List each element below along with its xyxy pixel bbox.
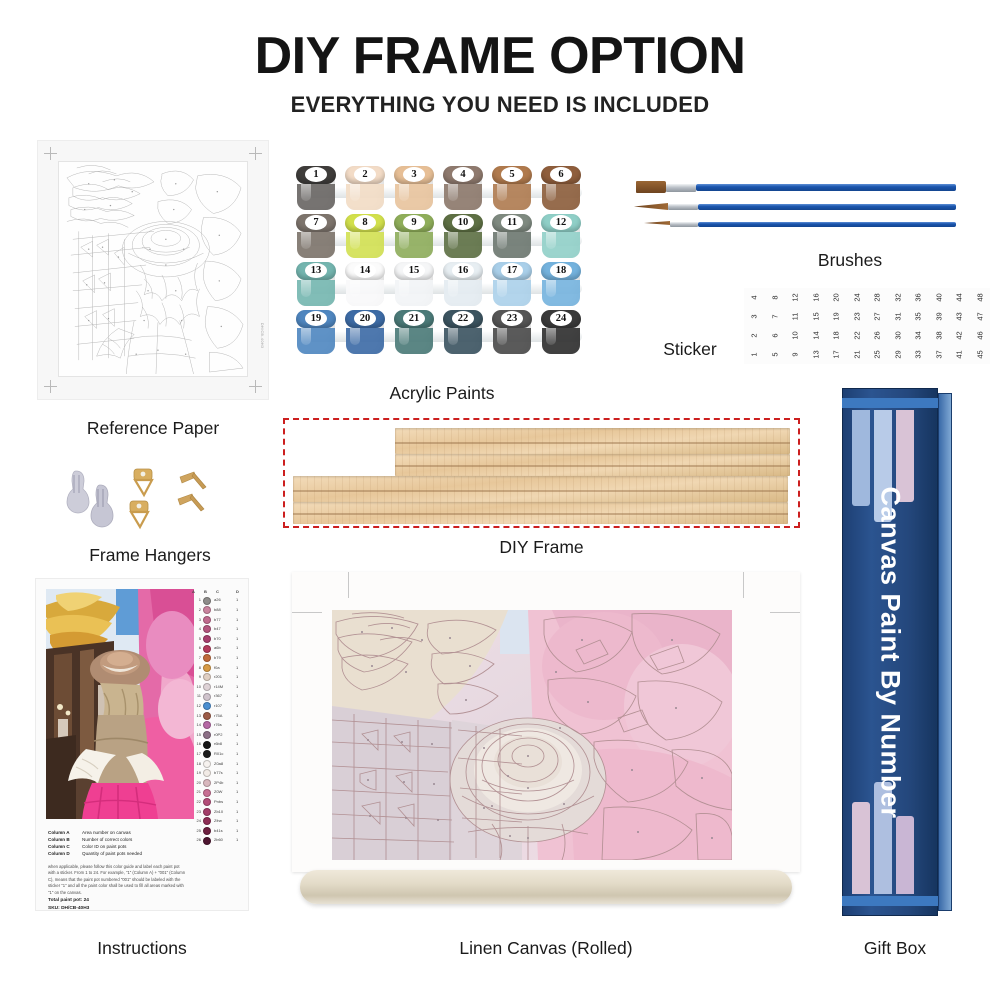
brush-handle	[696, 184, 956, 191]
frame-bar	[395, 454, 790, 476]
legend-index: 11	[190, 693, 201, 698]
legend-color-code: r76s	[214, 722, 222, 727]
legend-color-swatch	[203, 616, 211, 624]
legend-quantity: 1	[236, 780, 238, 785]
paint-pot[interactable]: 21	[394, 310, 434, 356]
sticker-number: 29	[893, 347, 902, 361]
paint-pot[interactable]: 7	[296, 214, 336, 260]
legend-row: 9r2011	[190, 673, 242, 682]
sticker-number: 45	[975, 347, 984, 361]
legend-row: 1a261	[190, 596, 242, 605]
brush-handle	[698, 222, 956, 227]
legend-row: 25b41s1	[190, 826, 242, 835]
gift-box-label: Canvas Paint By Number	[875, 486, 906, 818]
sticker-number: 39	[934, 309, 943, 323]
caption-instructions: Instructions	[35, 938, 249, 959]
d-ring-icon	[134, 469, 152, 495]
legend-color-swatch	[203, 741, 211, 749]
legend-color-code: R01c	[214, 751, 223, 756]
legend-quantity: 1	[236, 693, 238, 698]
legend-quantity: 1	[236, 789, 238, 794]
page-title: DIY FRAME OPTION	[0, 26, 1000, 86]
legend-color-code: 2b60	[214, 837, 223, 842]
legend-color-code: b41s	[214, 828, 223, 833]
paint-pot-number: 12	[550, 215, 572, 230]
legend-color-code: r201	[214, 674, 222, 679]
legend-color-swatch	[203, 664, 211, 672]
legend-color-swatch	[203, 673, 211, 681]
instruction-column-row: Column BNumber of correct colors	[48, 836, 183, 843]
instruction-column-row: Column AArea number on canvas	[48, 829, 183, 836]
legend-column-header: C	[216, 589, 219, 594]
paint-pot-rail	[302, 331, 582, 342]
paint-pot-number: 14	[354, 263, 376, 278]
paint-pot[interactable]: 6	[541, 166, 581, 212]
paint-pot-number: 19	[305, 311, 327, 326]
instruction-column-desc: Number of correct colors	[82, 837, 132, 842]
sticker-number: 37	[934, 347, 943, 361]
legend-column-header: A	[192, 589, 195, 594]
sticker-number: 3	[750, 309, 759, 323]
sticker-number: 22	[852, 328, 861, 342]
paint-pot[interactable]: 22	[443, 310, 483, 356]
legend-row: 12r1071	[190, 702, 242, 711]
legend-quantity: 1	[236, 597, 238, 602]
legend-color-swatch	[203, 798, 211, 806]
legend-color-swatch	[203, 683, 211, 691]
legend-color-swatch	[203, 731, 211, 739]
canvas-art-svg	[332, 610, 732, 860]
instructions-column-key: Column AArea number on canvasColumn BNum…	[48, 829, 183, 857]
sticker-number: 18	[832, 328, 841, 342]
legend-index: 20	[190, 780, 201, 785]
instruction-column-label: Column D	[48, 850, 82, 857]
legend-row: 17R01c1	[190, 750, 242, 759]
instructions-art-svg	[46, 589, 194, 819]
legend-row: 16r6b81	[190, 740, 242, 749]
legend-row: 18Z0a81	[190, 759, 242, 768]
brush-bristles	[634, 203, 668, 210]
canvas-sheet	[292, 572, 800, 872]
legend-color-code: r6b8	[214, 741, 222, 746]
paint-pot-number: 8	[354, 215, 376, 230]
sticker-number: 46	[975, 328, 984, 342]
legend-quantity: 1	[236, 837, 238, 842]
frame-bar	[293, 502, 788, 524]
sticker-number: 24	[852, 290, 861, 304]
sticker-number: 40	[934, 290, 943, 304]
caption-linen-canvas: Linen Canvas (Rolled)	[292, 938, 800, 959]
legend-row: 4b471	[190, 625, 242, 634]
legend-quantity: 1	[236, 645, 238, 650]
legend-color-swatch	[203, 721, 211, 729]
legend-quantity: 1	[236, 626, 238, 631]
legend-color-swatch	[203, 817, 211, 825]
paint-pot-number: 6	[550, 167, 572, 182]
legend-index: 2	[190, 607, 201, 612]
caption-diy-frame: DIY Frame	[283, 537, 800, 558]
screw-icon	[178, 494, 204, 511]
sticker-number: 19	[832, 309, 841, 323]
paint-pot[interactable]: 24	[541, 310, 581, 356]
legend-row: 202P4b1	[190, 778, 242, 787]
total-paint-pot-label: Total paint pot:	[48, 898, 82, 903]
legend-quantity: 1	[236, 703, 238, 708]
sticker-number: 27	[873, 309, 882, 323]
brush-ferrule	[668, 204, 698, 210]
paint-pot-number: 22	[452, 311, 474, 326]
sticker-number: 44	[955, 290, 964, 304]
legend-color-code: b79	[214, 655, 221, 660]
legend-index: 22	[190, 799, 201, 804]
line-art-svg	[59, 162, 247, 376]
paint-pot[interactable]: 13	[296, 262, 336, 308]
legend-color-swatch	[203, 712, 211, 720]
legend-index: 15	[190, 732, 201, 737]
legend-index: 9	[190, 674, 201, 679]
legend-row: 23Zb101	[190, 807, 242, 816]
paint-pot[interactable]: 23	[492, 310, 532, 356]
legend-quantity: 1	[236, 761, 238, 766]
instruction-column-row: Column DQuantity of paint pots needed	[48, 850, 183, 857]
paint-pot[interactable]: 14	[345, 262, 385, 308]
acrylic-paints-group: 123456789101112131415161718192021222324	[296, 166, 588, 366]
sticker-number: 48	[975, 290, 984, 304]
legend-color-swatch	[203, 827, 211, 835]
paint-pot[interactable]: 20	[345, 310, 385, 356]
paint-pot-number: 18	[550, 263, 572, 278]
brushes-group	[616, 178, 956, 240]
legend-index: 12	[190, 703, 201, 708]
sticker-number: 4	[750, 290, 759, 304]
paint-pot-number: 7	[305, 215, 327, 230]
paint-pot-row: 789101112	[296, 214, 588, 262]
legend-quantity: 1	[236, 674, 238, 679]
legend-quantity: 1	[236, 607, 238, 612]
frame-bar	[395, 428, 790, 454]
caption-brushes: Brushes	[760, 250, 940, 271]
instruction-column-desc: Area number on canvas	[82, 830, 131, 835]
sticker-sheet: 1234567891011121314151617181920212223242…	[744, 288, 990, 364]
legend-index: 5	[190, 636, 201, 641]
legend-color-swatch	[203, 693, 211, 701]
paint-pot[interactable]: 16	[443, 262, 483, 308]
paint-pot[interactable]: 4	[443, 166, 483, 212]
legend-index: 24	[190, 818, 201, 823]
sticker-number: 12	[791, 290, 800, 304]
legend-quantity: 1	[236, 818, 238, 823]
instruction-column-desc: Color ID on paint pots	[82, 844, 126, 849]
reference-paper-line-art	[58, 161, 248, 377]
brush-ferrule	[666, 184, 696, 192]
legend-index: 8	[190, 665, 201, 670]
legend-color-swatch	[203, 645, 211, 653]
brush-ferrule	[670, 222, 698, 227]
legend-index: 1	[190, 597, 201, 602]
paint-pot-number: 3	[403, 167, 425, 182]
sticker-number: 15	[811, 309, 820, 323]
diy-frame-group	[283, 418, 800, 528]
sticker-number: 43	[955, 309, 964, 323]
legend-row: 2b881	[190, 606, 242, 615]
caption-frame-hangers: Frame Hangers	[40, 545, 260, 566]
linen-canvas-group	[292, 566, 800, 914]
legend-index: 14	[190, 722, 201, 727]
sticker-number: 16	[811, 290, 820, 304]
paint-pot[interactable]: 5	[492, 166, 532, 212]
sticker-number: 32	[893, 290, 902, 304]
legend-row: 24Zfrw1	[190, 817, 242, 826]
sticker-number: 20	[832, 290, 841, 304]
legend-row: 10r14M1	[190, 682, 242, 691]
legend-column-header: B	[204, 589, 207, 594]
legend-row: 22Pnbs1	[190, 798, 242, 807]
plastic-hook-icon	[67, 471, 89, 513]
paint-pot[interactable]: 8	[345, 214, 385, 260]
legend-color-swatch	[203, 597, 211, 605]
infographic-root: DIY FRAME OPTION EVERYTHING YOU NEED IS …	[0, 0, 1000, 1000]
legend-index: 19	[190, 770, 201, 775]
sticker-number: 13	[811, 347, 820, 361]
brush-bristles	[636, 181, 666, 193]
paint-pot-rail	[302, 283, 582, 294]
legend-index: 25	[190, 828, 201, 833]
legend-index: 23	[190, 809, 201, 814]
instructions-color-legend: ABCD1a2612b8813b7714b4715b7016a6b17b7918…	[190, 589, 242, 851]
paint-pot-number: 5	[501, 167, 523, 182]
sticker-number: 35	[914, 309, 923, 323]
brush-bristles	[644, 221, 670, 225]
legend-quantity: 1	[236, 732, 238, 737]
legend-color-code: b77	[214, 617, 221, 622]
legend-color-swatch	[203, 750, 211, 758]
sticker-number: 41	[955, 347, 964, 361]
paint-pot-number: 17	[501, 263, 523, 278]
legend-color-swatch	[203, 769, 211, 777]
paint-pot-rail	[302, 187, 582, 198]
legend-color-swatch	[203, 789, 211, 797]
legend-color-code: Zfrw	[214, 818, 222, 823]
sticker-number: 5	[770, 347, 779, 361]
paint-pot-number: 15	[403, 263, 425, 278]
reference-paper-code: DH/CB-40H3	[258, 323, 264, 365]
legend-color-code: Pnbs	[214, 799, 223, 804]
screw-icon	[180, 472, 206, 489]
frame-bar	[293, 476, 788, 502]
sticker-number: 10	[791, 328, 800, 342]
sticker-number: 7	[770, 309, 779, 323]
legend-quantity: 1	[236, 799, 238, 804]
legend-quantity: 1	[236, 617, 238, 622]
caption-reference-paper: Reference Paper	[37, 418, 269, 439]
legend-quantity: 1	[236, 665, 238, 670]
paint-pot-number: 10	[452, 215, 474, 230]
legend-quantity: 1	[236, 828, 238, 833]
legend-row: 19b77s1	[190, 769, 242, 778]
legend-color-code: a6b	[214, 645, 221, 650]
legend-color-code: 2P4b	[214, 780, 223, 785]
hangers-svg	[60, 465, 250, 535]
caption-acrylic-paints: Acrylic Paints	[296, 383, 588, 404]
caption-sticker: Sticker	[620, 339, 760, 360]
plastic-hook-icon	[91, 485, 113, 527]
legend-color-code: b88	[214, 607, 221, 612]
legend-color-code: r75A	[214, 713, 222, 718]
sticker-number: 9	[791, 347, 800, 361]
legend-color-swatch	[203, 760, 211, 768]
legend-index: 16	[190, 741, 201, 746]
legend-quantity: 1	[236, 636, 238, 641]
sticker-number: 8	[770, 290, 779, 304]
paint-pot[interactable]: 17	[492, 262, 532, 308]
sku-label: SKU:	[48, 906, 60, 911]
legend-color-swatch	[203, 837, 211, 845]
paint-pot[interactable]: 2	[345, 166, 385, 212]
legend-color-code: b47	[214, 626, 221, 631]
paint-pot-number: 16	[452, 263, 474, 278]
sticker-number: 14	[811, 328, 820, 342]
paint-pot-number: 20	[354, 311, 376, 326]
sticker-number: 34	[914, 328, 923, 342]
paint-pot[interactable]: 9	[394, 214, 434, 260]
paint-pot-row: 131415161718	[296, 262, 588, 310]
sticker-number: 47	[975, 309, 984, 323]
sticker-number: 28	[873, 290, 882, 304]
instruction-column-label: Column C	[48, 843, 82, 850]
paint-pot[interactable]: 15	[394, 262, 434, 308]
legend-column-header: D	[236, 589, 239, 594]
legend-color-code: r14M	[214, 684, 223, 689]
paint-pot[interactable]: 12	[541, 214, 581, 260]
legend-index: 17	[190, 751, 201, 756]
d-ring-icon	[130, 501, 148, 527]
legend-row: 8f0a1	[190, 663, 242, 672]
paint-pot-number: 13	[305, 263, 327, 278]
legend-color-code: r107	[214, 703, 222, 708]
canvas-line-art	[332, 610, 732, 860]
legend-color-swatch	[203, 808, 211, 816]
instruction-column-label: Column A	[48, 829, 82, 836]
brush-handle	[698, 204, 956, 210]
legend-quantity: 1	[236, 684, 238, 689]
paint-pot[interactable]: 11	[492, 214, 532, 260]
instructions-artwork	[46, 589, 194, 819]
paint-pot-row: 192021222324	[296, 310, 588, 358]
sticker-number: 21	[852, 347, 861, 361]
instruction-column-row: Column CColor ID on paint pots	[48, 843, 183, 850]
instructions-totals: Total paint pot: 24 SKU: DH/CB-40H3	[48, 897, 89, 912]
legend-quantity: 1	[236, 770, 238, 775]
legend-index: 13	[190, 713, 201, 718]
paint-pot-number: 2	[354, 167, 376, 182]
gift-box: Canvas Paint By Number	[836, 388, 954, 916]
legend-color-swatch	[203, 702, 211, 710]
legend-color-swatch	[203, 654, 211, 662]
legend-row: 14r76s1	[190, 721, 242, 730]
legend-color-code: r0P2	[214, 732, 222, 737]
sticker-number: 42	[955, 328, 964, 342]
legend-index: 18	[190, 761, 201, 766]
paint-pot[interactable]: 10	[443, 214, 483, 260]
legend-quantity: 1	[236, 722, 238, 727]
sticker-number: 30	[893, 328, 902, 342]
instructions-note: when applicable, please follow this colo…	[48, 864, 188, 896]
sticker-number: 31	[893, 309, 902, 323]
legend-row: 21Z0W1	[190, 788, 242, 797]
legend-row: 5b701	[190, 634, 242, 643]
legend-row: 15r0P21	[190, 730, 242, 739]
legend-color-code: r367	[214, 693, 222, 698]
paint-pot-number: 1	[305, 167, 327, 182]
sku-value: DH/CB-40H3	[61, 906, 89, 911]
sticker-number: 17	[832, 347, 841, 361]
gift-box-label-wrap: Canvas Paint By Number	[842, 388, 938, 916]
legend-index: 4	[190, 626, 201, 631]
sticker-number: 38	[934, 328, 943, 342]
legend-quantity: 1	[236, 809, 238, 814]
legend-quantity: 1	[236, 741, 238, 746]
legend-index: 26	[190, 837, 201, 842]
sticker-number-grid: 1234567891011121314151617181920212223242…	[744, 288, 990, 364]
legend-color-code: a26	[214, 597, 221, 602]
page-subtitle: EVERYTHING YOU NEED IS INCLUDED	[0, 92, 1000, 118]
reference-paper: DH/CB-40H3	[37, 140, 269, 400]
caption-gift-box: Gift Box	[836, 938, 954, 959]
legend-quantity: 1	[236, 751, 238, 756]
paint-pot-number: 24	[550, 311, 572, 326]
legend-color-swatch	[203, 606, 211, 614]
legend-index: 6	[190, 645, 201, 650]
legend-row: 3b771	[190, 615, 242, 624]
canvas-roll	[300, 870, 792, 904]
paint-pot[interactable]: 18	[541, 262, 581, 308]
sticker-number: 23	[852, 309, 861, 323]
sticker-number: 6	[770, 328, 779, 342]
paint-pot-rail	[302, 235, 582, 246]
legend-color-code: Z0a8	[214, 761, 223, 766]
frame-hangers-group	[60, 465, 250, 535]
instruction-column-desc: Quantity of paint pots needed	[82, 851, 142, 856]
legend-index: 10	[190, 684, 201, 689]
paint-pot-row: 123456	[296, 166, 588, 214]
sticker-number: 11	[791, 309, 800, 323]
legend-color-code: Zb10	[214, 809, 223, 814]
sticker-number: 36	[914, 290, 923, 304]
legend-color-swatch	[203, 625, 211, 633]
sticker-number: 33	[914, 347, 923, 361]
paint-pot[interactable]: 1	[296, 166, 336, 212]
legend-color-code: Z0W	[214, 789, 222, 794]
legend-index: 21	[190, 789, 201, 794]
paint-pot-number: 9	[403, 215, 425, 230]
legend-quantity: 1	[236, 655, 238, 660]
legend-color-swatch	[203, 635, 211, 643]
sticker-number: 26	[873, 328, 882, 342]
paint-pot[interactable]: 19	[296, 310, 336, 356]
paint-pot-number: 21	[403, 311, 425, 326]
legend-row: 7b791	[190, 654, 242, 663]
paint-pot[interactable]: 3	[394, 166, 434, 212]
legend-row: 11r3671	[190, 692, 242, 701]
legend-index: 3	[190, 617, 201, 622]
legend-index: 7	[190, 655, 201, 660]
paint-pot-number: 4	[452, 167, 474, 182]
legend-row: 262b601	[190, 836, 242, 845]
legend-row: 13r75A1	[190, 711, 242, 720]
legend-color-code: f0a	[214, 665, 220, 670]
legend-color-code: b77s	[214, 770, 223, 775]
sticker-number: 25	[873, 347, 882, 361]
